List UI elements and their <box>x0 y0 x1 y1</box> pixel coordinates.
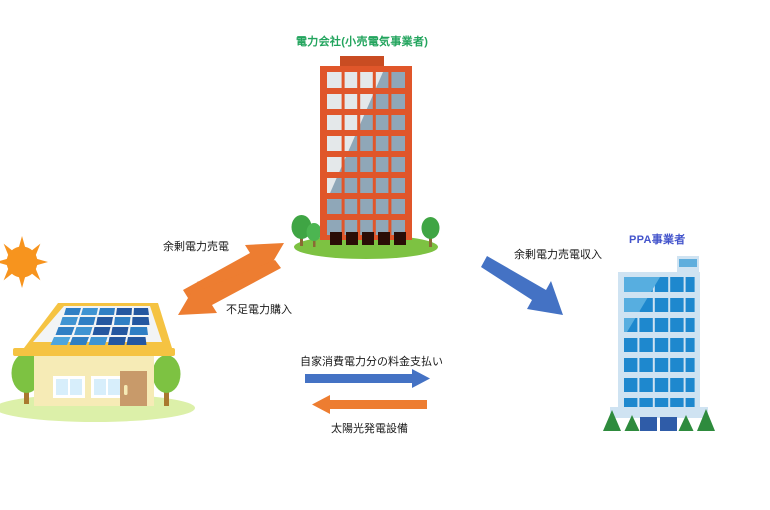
house-window-right <box>91 376 123 398</box>
arrow-self-consumption-fee <box>305 369 430 388</box>
arrow-surplus-revenue <box>481 256 563 315</box>
utility-entrances <box>330 232 406 245</box>
sun-icon <box>0 236 48 288</box>
house-illustration <box>13 303 175 406</box>
utility-windows <box>320 72 412 235</box>
ppa-entrance-doors <box>640 417 677 431</box>
arrow-solar-equipment <box>312 395 427 414</box>
ppa-building-illustration <box>603 256 715 431</box>
house-window-left <box>53 376 85 398</box>
diagram-canvas: 電力会社(小売電気事業者) PPA事業者 余剰電力売電 不足電力購入 余剰電力売… <box>0 0 770 510</box>
house-door <box>120 371 147 406</box>
utility-building-illustration <box>292 56 440 259</box>
illustration-layer <box>0 0 770 510</box>
ppa-windows <box>618 277 700 408</box>
